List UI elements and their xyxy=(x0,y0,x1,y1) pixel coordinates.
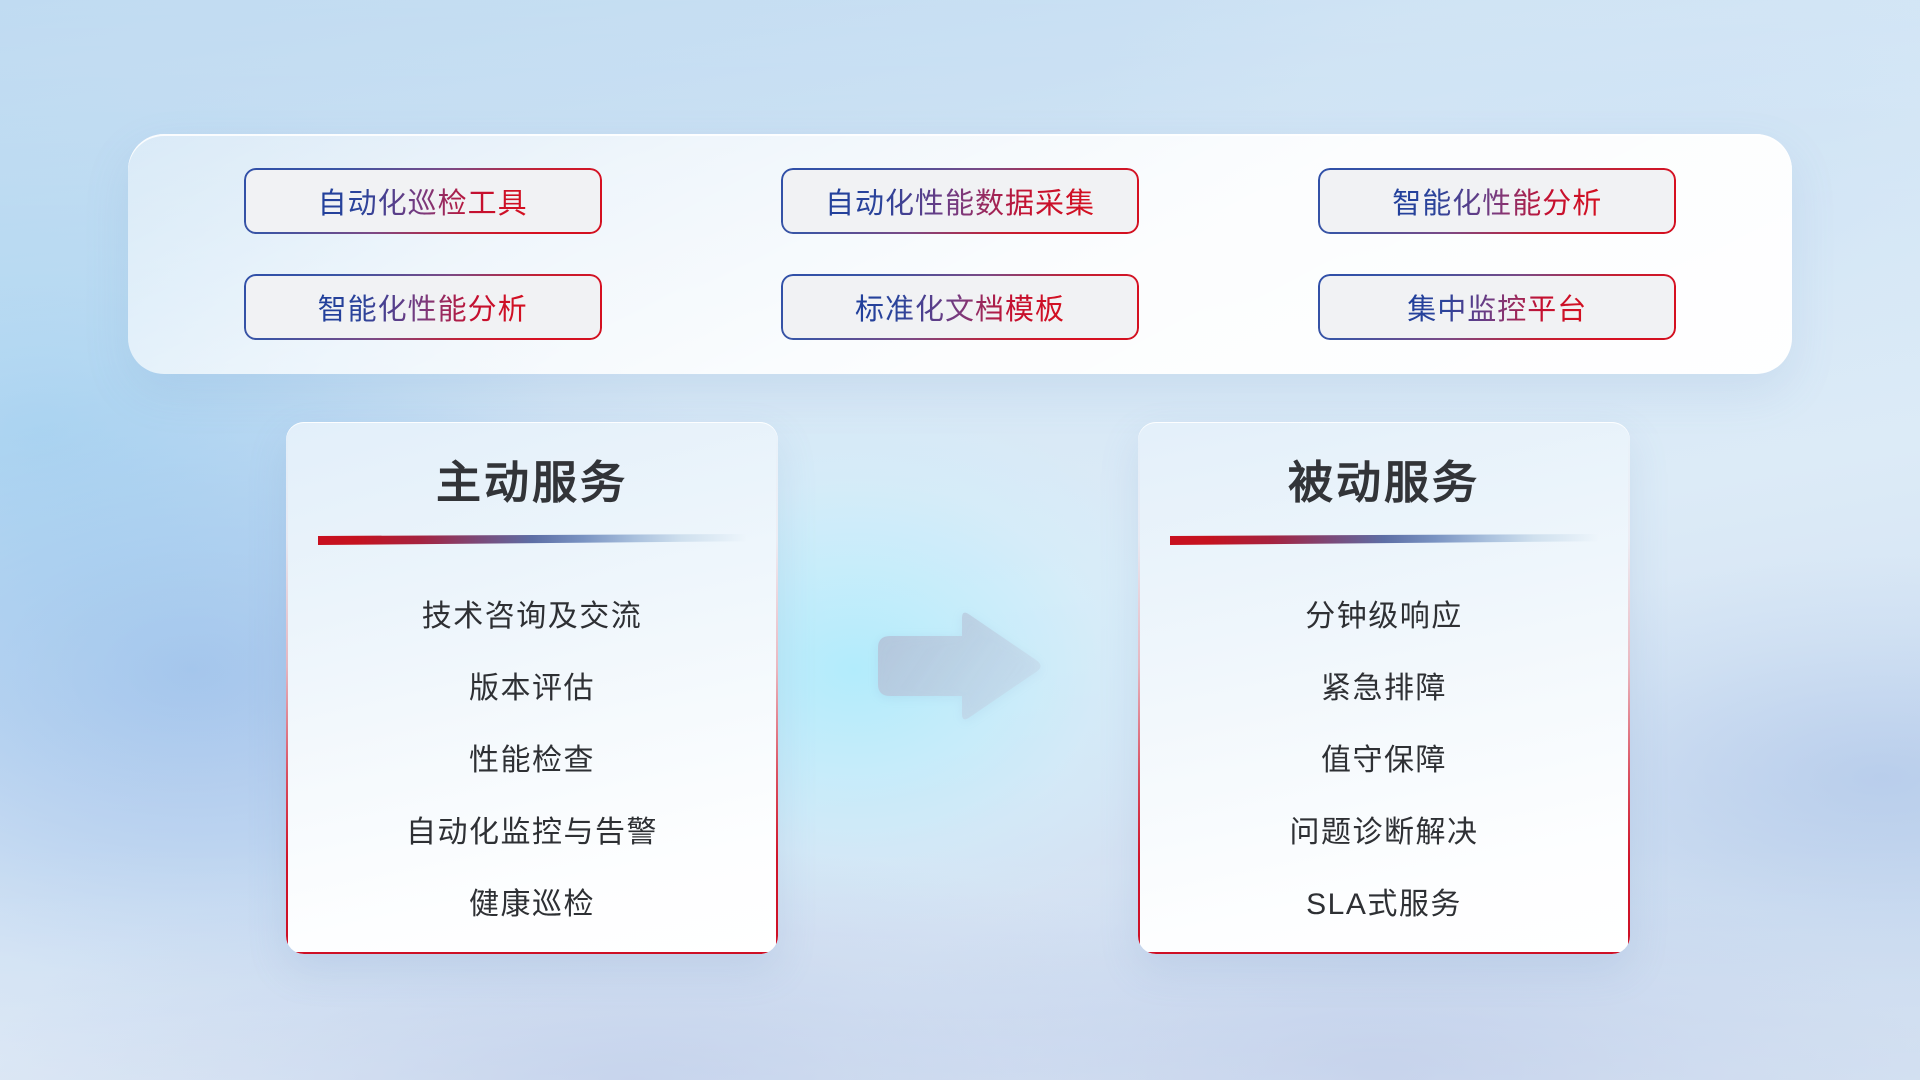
card-list-item: 问题诊断解决 xyxy=(1290,797,1479,869)
card-list-item: SLA式服务 xyxy=(1306,869,1462,941)
capability-chip[interactable]: 自动化性能数据采集 xyxy=(781,168,1139,234)
service-card-passive: 被动服务 分钟级响应 紧急排障 值守保障 问题诊断解决 SLA式服务 xyxy=(1138,422,1630,954)
card-list-item: 健康巡检 xyxy=(469,869,595,941)
card-title: 被动服务 xyxy=(1288,460,1480,505)
card-divider xyxy=(318,534,746,545)
service-card-active: 主动服务 技术咨询及交流 版本评估 性能检查 自动化监控与告警 健康巡检 xyxy=(286,422,778,954)
capability-panel: 自动化巡检工具 自动化性能数据采集 智能化性能分析 智能化性能分析 标准化文档模… xyxy=(128,134,1792,374)
card-list-item: 值守保障 xyxy=(1321,725,1447,797)
arrow-right-icon xyxy=(876,612,1042,720)
card-list-item: 分钟级响应 xyxy=(1305,581,1463,653)
capability-chip[interactable]: 自动化巡检工具 xyxy=(244,168,602,234)
card-divider xyxy=(1170,534,1598,545)
card-item-list: 分钟级响应 紧急排障 值守保障 问题诊断解决 SLA式服务 xyxy=(1138,581,1630,941)
card-list-item: 版本评估 xyxy=(469,653,595,725)
capability-chip[interactable]: 集中监控平台 xyxy=(1318,274,1676,340)
card-list-item: 性能检查 xyxy=(469,725,595,797)
card-list-item: 技术咨询及交流 xyxy=(422,581,643,653)
capability-chip[interactable]: 标准化文档模板 xyxy=(781,274,1139,340)
card-divider-bar xyxy=(318,534,746,545)
card-list-item: 自动化监控与告警 xyxy=(406,797,658,869)
capability-chip-label: 智能化性能分析 xyxy=(1392,180,1602,222)
slide-canvas: 自动化巡检工具 自动化性能数据采集 智能化性能分析 智能化性能分析 标准化文档模… xyxy=(0,0,1920,1080)
capability-chip-label: 集中监控平台 xyxy=(1407,286,1587,328)
capability-chip-label: 标准化文档模板 xyxy=(855,286,1065,328)
capability-chip-label: 智能化性能分析 xyxy=(318,286,528,328)
capability-chip[interactable]: 智能化性能分析 xyxy=(1318,168,1676,234)
card-title: 主动服务 xyxy=(436,460,628,505)
card-list-item: 紧急排障 xyxy=(1321,653,1447,725)
card-divider-bar xyxy=(1170,534,1598,545)
card-item-list: 技术咨询及交流 版本评估 性能检查 自动化监控与告警 健康巡检 xyxy=(286,581,778,941)
capability-chip-label: 自动化性能数据采集 xyxy=(825,180,1095,222)
capability-chip-label: 自动化巡检工具 xyxy=(318,180,528,222)
capability-chip[interactable]: 智能化性能分析 xyxy=(244,274,602,340)
